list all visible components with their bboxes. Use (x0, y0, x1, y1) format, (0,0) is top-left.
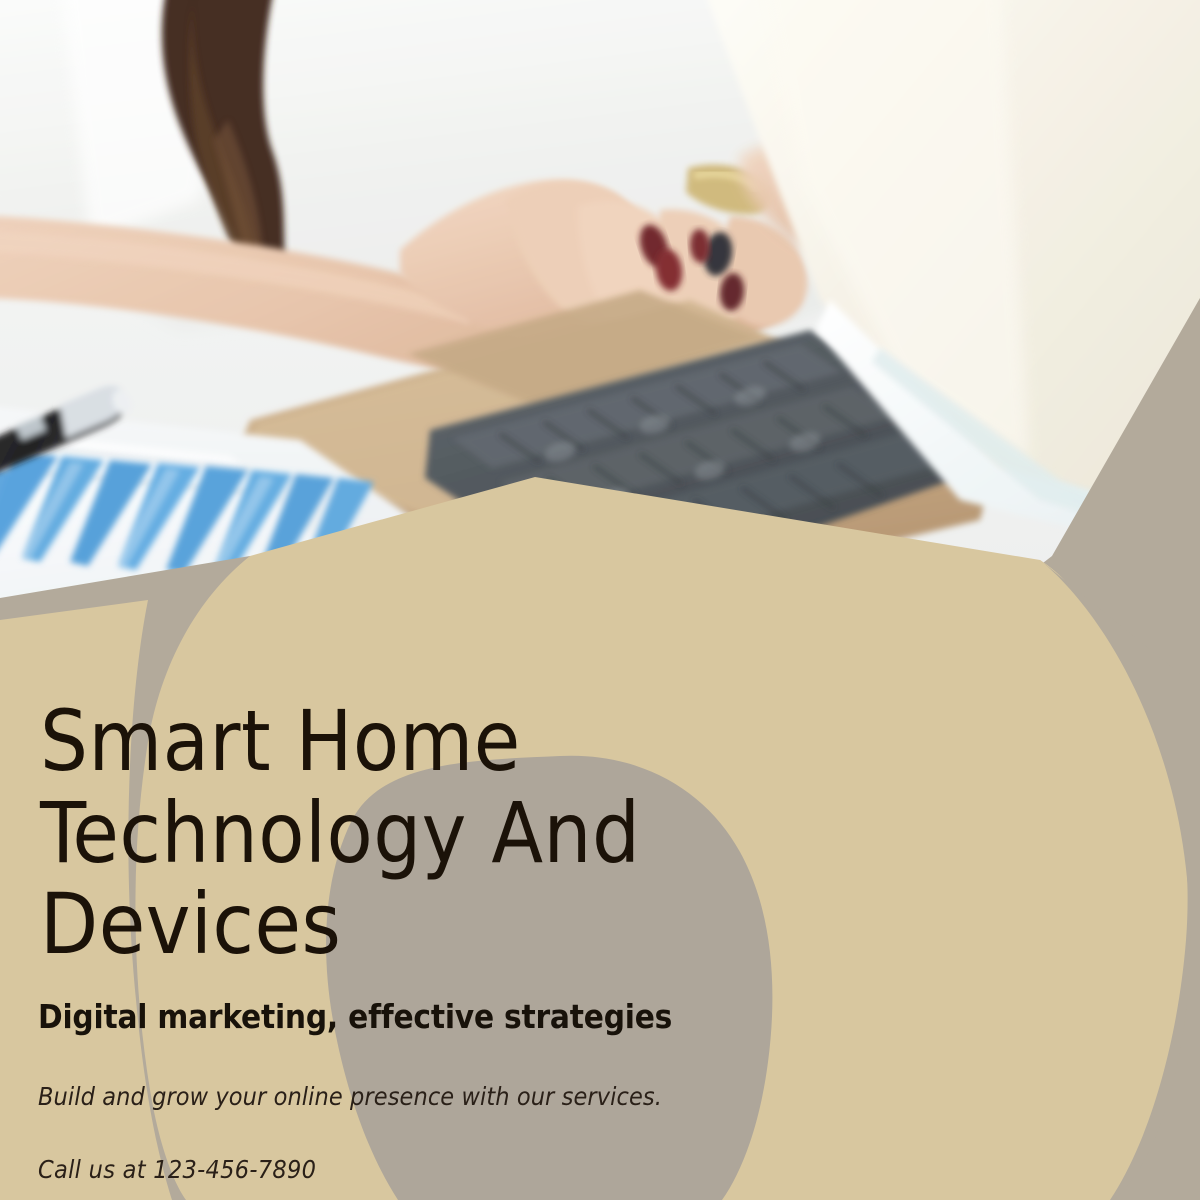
page-title: Smart Home Technology And Devices (40, 696, 860, 971)
contact-info: Call us at 123-456-7890 (38, 1155, 316, 1184)
subtitle: Digital marketing, effective strategies (38, 997, 672, 1036)
tagline: Build and grow your online presence with… (38, 1082, 662, 1111)
poster-canvas: Smart Home Technology And Devices Digita… (0, 0, 1200, 1200)
